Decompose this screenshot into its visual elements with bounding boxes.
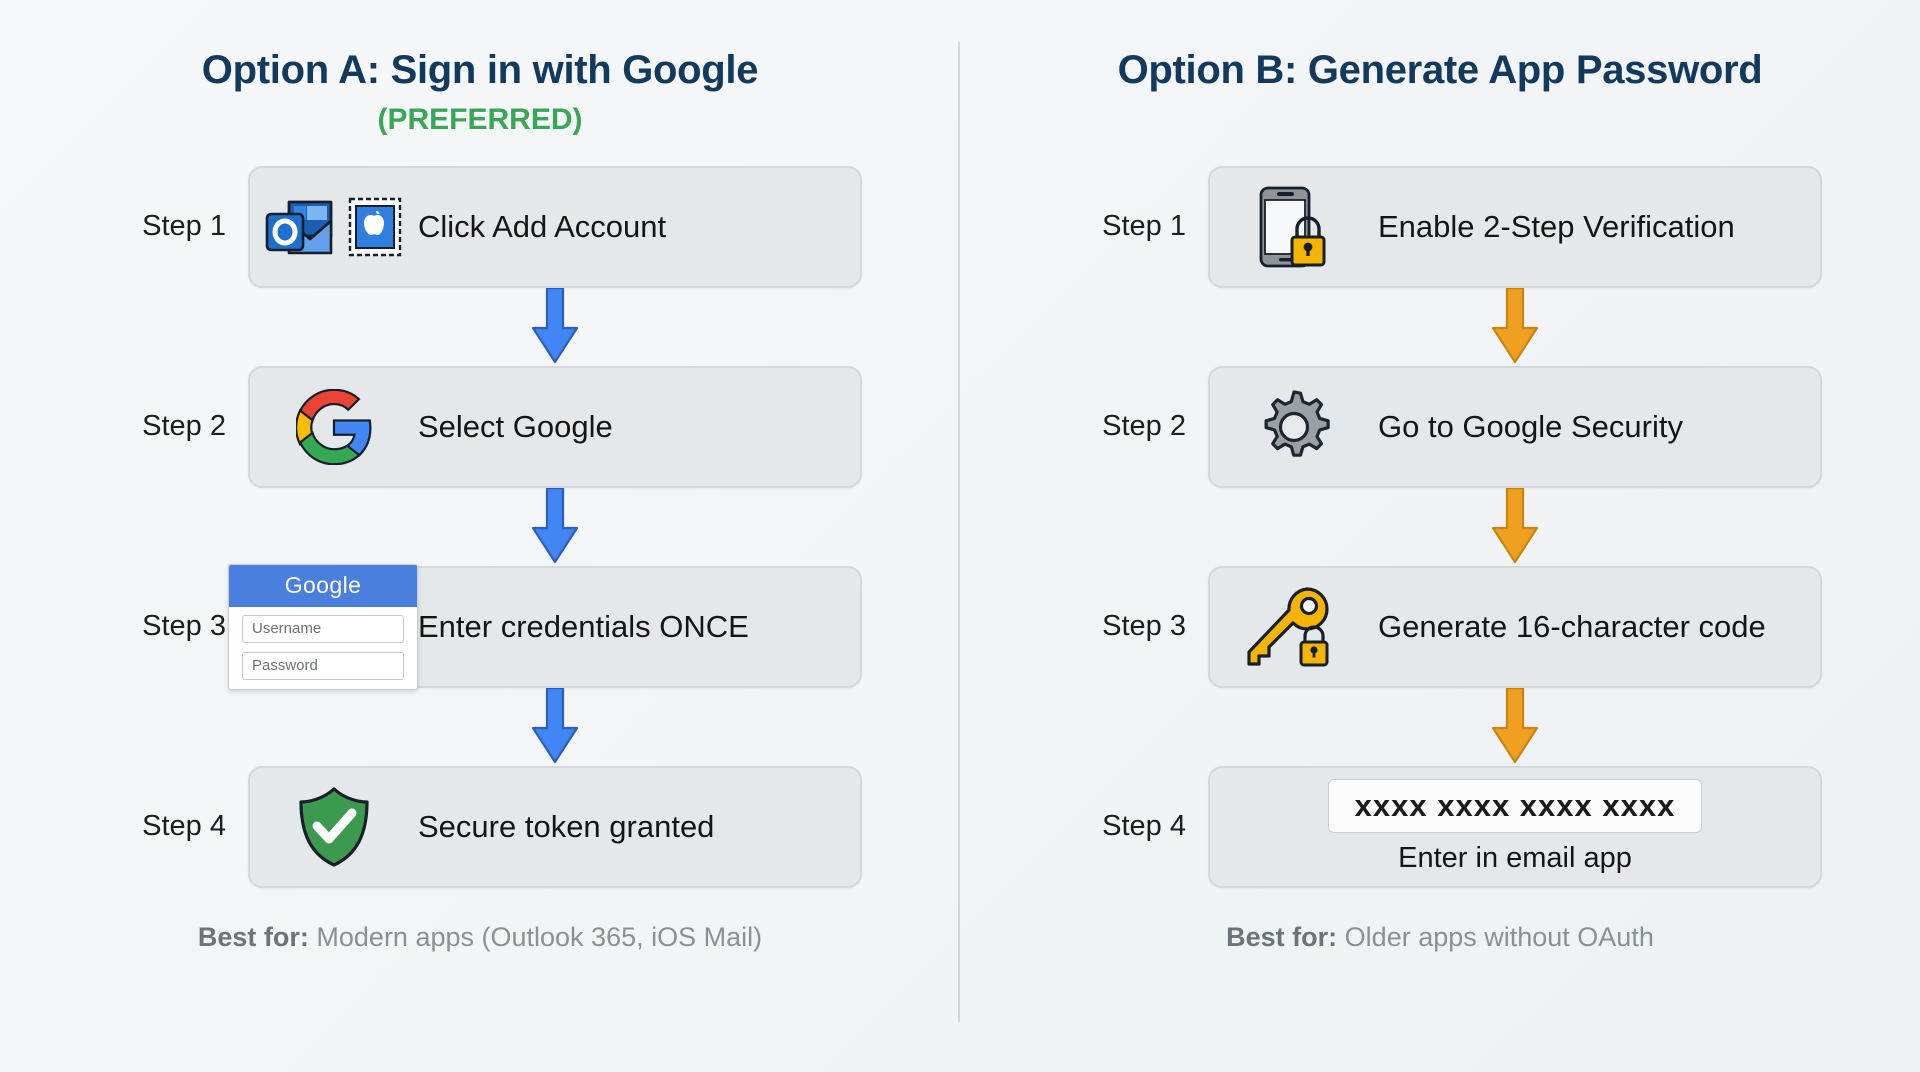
phone-with-lock-icon — [1210, 183, 1378, 271]
step-label: Step 3 — [1058, 610, 1208, 643]
step-card[interactable]: Enable 2-Step Verification — [1208, 166, 1822, 288]
step-card[interactable]: Secure token granted — [248, 766, 862, 888]
outlook-and-apple-mail-icon — [250, 193, 418, 261]
step-card[interactable]: Select Google — [248, 366, 862, 488]
flow-arrow-blue — [0, 488, 960, 566]
google-brand-label: Google — [285, 572, 362, 599]
column-a-header: Option A: Sign in with Google (PREFERRED… — [0, 0, 960, 136]
key-with-lock-icon — [1210, 584, 1378, 670]
column-a-steps: Step 1 — [0, 166, 960, 888]
infographic-root: Option A: Sign in with Google (PREFERRED… — [0, 0, 1920, 1072]
app-password-caption: Enter in email app — [1398, 842, 1632, 875]
step-row: Step 3 Ge — [960, 566, 1920, 688]
apple-mail-stamp-icon — [345, 193, 405, 261]
step-label: Step 1 — [98, 210, 248, 243]
step-row: Step 3 Google Username Password — [0, 566, 960, 688]
green-shield-check-icon — [250, 785, 418, 869]
best-for-text: Modern apps (Outlook 365, iOS Mail) — [316, 922, 762, 952]
column-b-header: Option B: Generate App Password — [960, 0, 1920, 136]
column-option-b: Option B: Generate App Password Step 1 — [960, 0, 1920, 1072]
google-login-mock: Google Username Password — [250, 564, 418, 690]
column-divider — [958, 42, 960, 1022]
step-text: Enter credentials ONCE — [418, 609, 860, 645]
step-card[interactable]: Go to Google Security — [1208, 366, 1822, 488]
username-field[interactable]: Username — [242, 615, 404, 643]
step-row: Step 4 Secure token granted — [0, 766, 960, 888]
best-for-text: Older apps without OAuth — [1345, 922, 1654, 952]
app-password-code-box: xxxx xxxx xxxx xxxx — [1328, 779, 1703, 833]
column-b-title: Option B: Generate App Password — [960, 48, 1920, 93]
password-field[interactable]: Password — [242, 652, 404, 680]
best-for-note-b: Best for: Older apps without OAuth — [960, 922, 1920, 953]
flow-arrow-orange — [960, 488, 1920, 566]
step-label: Step 2 — [98, 410, 248, 443]
step-label: Step 3 — [98, 610, 248, 643]
flow-arrow-orange — [960, 688, 1920, 766]
step-card[interactable]: xxxx xxxx xxxx xxxx Enter in email app — [1208, 766, 1822, 888]
column-option-a: Option A: Sign in with Google (PREFERRED… — [0, 0, 960, 1072]
step-row: Step 1 — [0, 166, 960, 288]
column-b-steps: Step 1 Enable — [960, 166, 1920, 888]
outlook-icon — [263, 195, 335, 259]
best-for-note-a: Best for: Modern apps (Outlook 365, iOS … — [0, 922, 960, 953]
step-label: Step 4 — [1058, 810, 1208, 843]
step-text: Enable 2-Step Verification — [1378, 209, 1820, 245]
step-label: Step 4 — [98, 810, 248, 843]
step-row: Step 2 Select Goog — [0, 366, 960, 488]
step-text: Click Add Account — [418, 209, 860, 245]
flow-arrow-blue — [0, 288, 960, 366]
step-row: Step 4 xxxx xxxx xxxx xxxx Enter in emai… — [960, 766, 1920, 888]
step-text: Generate 16-character code — [1378, 609, 1820, 645]
column-a-subtitle: (PREFERRED) — [0, 103, 960, 136]
step-card[interactable]: Generate 16-character code — [1208, 566, 1822, 688]
step-card[interactable]: Google Username Password Enter credentia… — [248, 566, 862, 688]
best-for-label: Best for: — [198, 922, 309, 952]
flow-arrow-blue — [0, 688, 960, 766]
google-login-header: Google — [229, 565, 417, 607]
step-row: Step 2 Go to Google Security — [960, 366, 1920, 488]
step-row: Step 1 Enable — [960, 166, 1920, 288]
gear-icon — [1210, 386, 1378, 468]
step-text: Go to Google Security — [1378, 409, 1820, 445]
google-g-icon — [250, 389, 418, 465]
step-label: Step 2 — [1058, 410, 1208, 443]
column-a-title: Option A: Sign in with Google — [0, 48, 960, 93]
step-label: Step 1 — [1058, 210, 1208, 243]
best-for-label: Best for: — [1226, 922, 1337, 952]
flow-arrow-orange — [960, 288, 1920, 366]
step-card[interactable]: Click Add Account — [248, 166, 862, 288]
step-text: Secure token granted — [418, 809, 860, 845]
step-text: Select Google — [418, 409, 860, 445]
